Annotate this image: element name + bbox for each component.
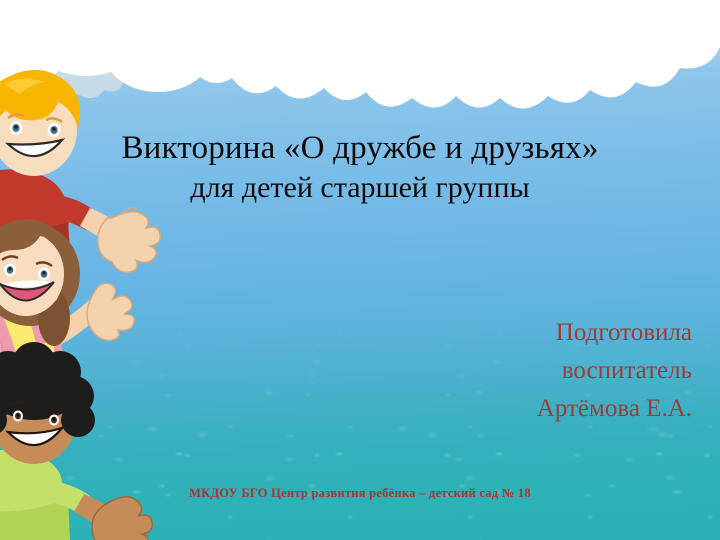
author-line-role: воспитатель — [262, 352, 692, 390]
kid-dark — [0, 342, 152, 540]
title-line-2: для детей старшей группы — [0, 173, 720, 204]
kid-girl-hand-right — [87, 283, 134, 340]
presentation-slide: Викторина «О дружбе и друзьях» для детей… — [0, 0, 720, 540]
title-line-1: Викторина «О дружбе и друзьях» — [0, 132, 720, 166]
author-line-name: Артёмова Е.А. — [262, 390, 692, 428]
author-line-prepared-by: Подготовила — [262, 314, 692, 352]
organization-caption: МКДОУ БГО Центр развития ребёнка – детск… — [0, 486, 720, 501]
slide-title: Викторина «О дружбе и друзьях» для детей… — [0, 132, 720, 203]
author-block: Подготовила воспитатель Артёмова Е.А. — [262, 314, 692, 428]
